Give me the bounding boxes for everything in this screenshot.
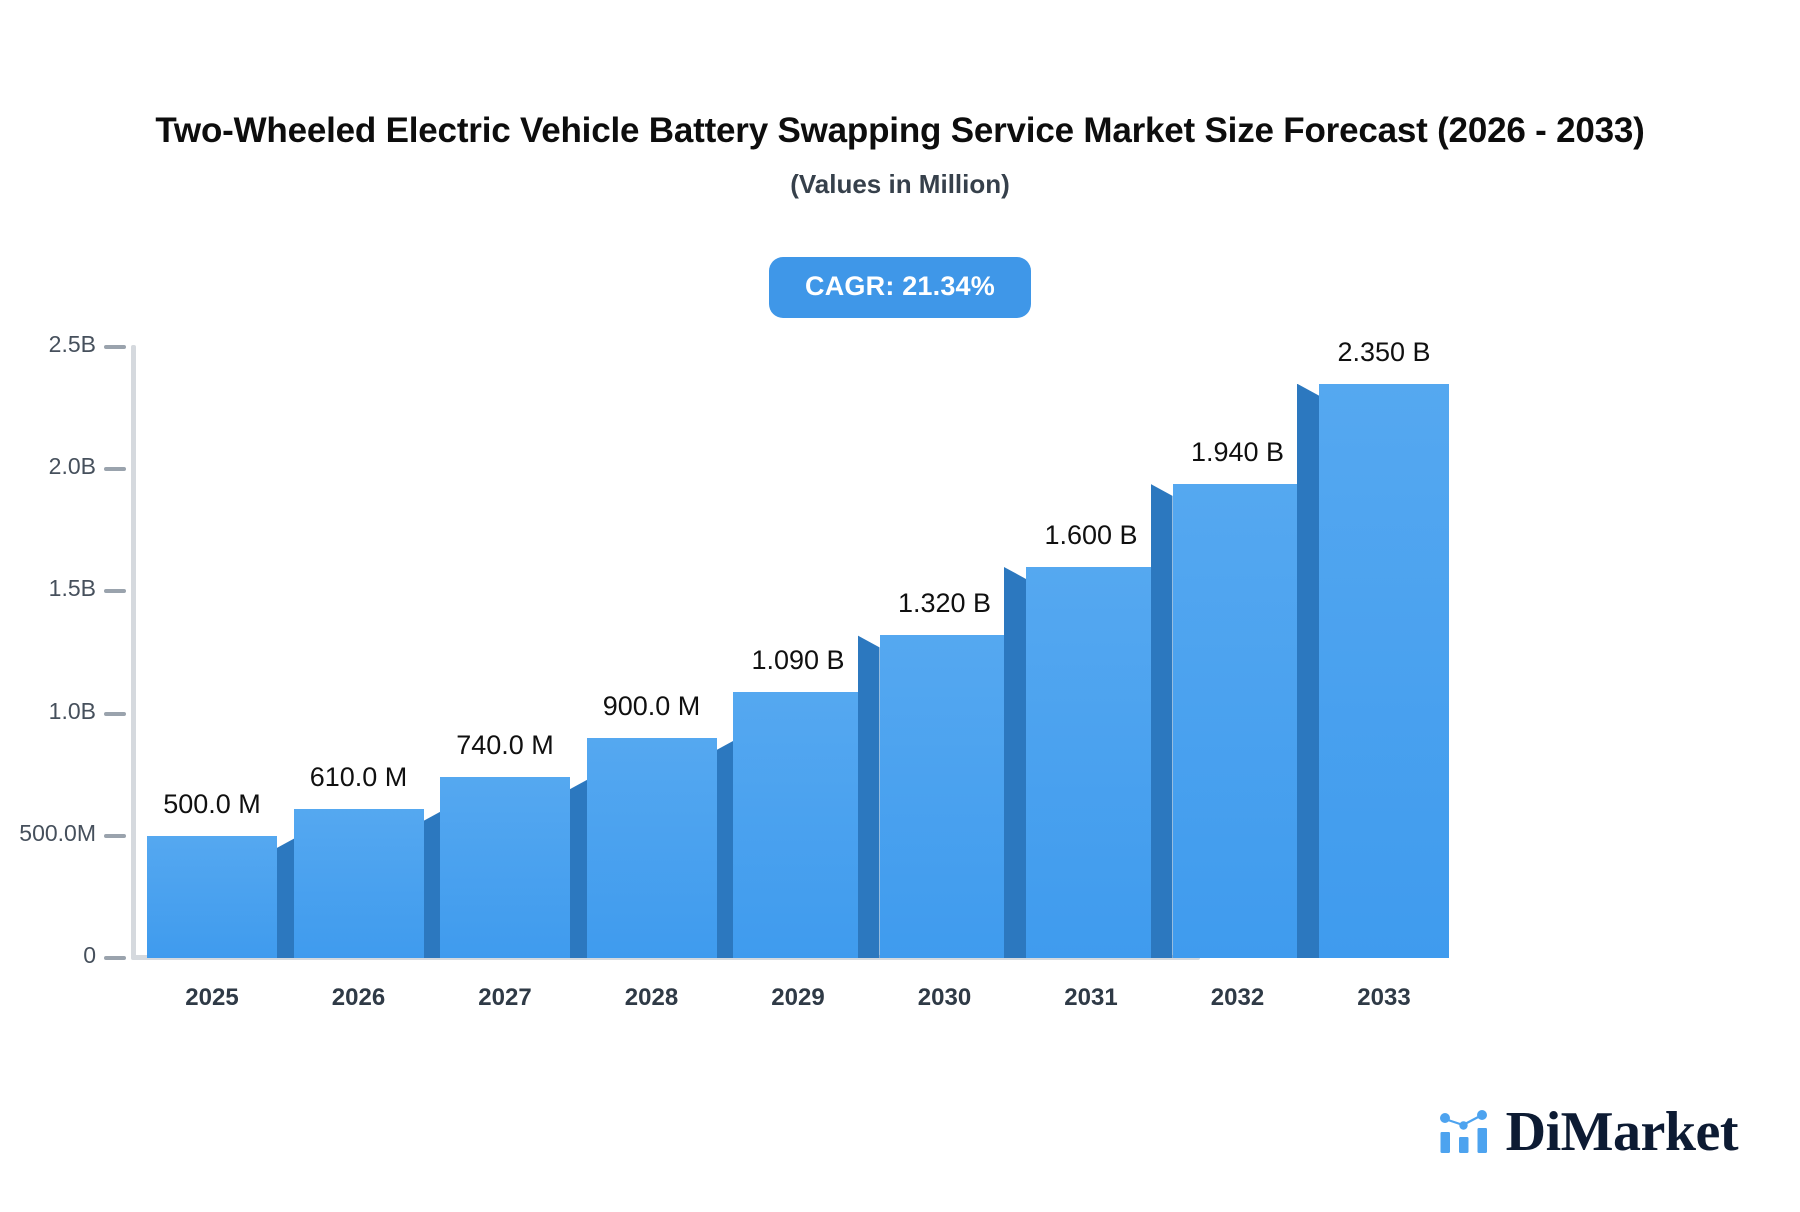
x-axis-tick-label-2028: 2028: [582, 984, 722, 1012]
bar-value-label: 740.0 M: [456, 730, 554, 761]
x-axis-tick-label-2025: 2025: [142, 984, 282, 1012]
x-axis-tick-label-2033: 2033: [1314, 984, 1454, 1012]
bar-2025[interactable]: 500.0 M: [147, 836, 277, 958]
x-axis-tick-label-2027: 2027: [435, 984, 575, 1012]
bar-2028[interactable]: 900.0 M: [587, 738, 717, 958]
bar-value-label: 1.940 B: [1191, 437, 1284, 468]
bar-value-label: 610.0 M: [310, 762, 408, 793]
bar-side-shadow: [858, 635, 880, 958]
bar-face: [733, 692, 863, 958]
bar-2026[interactable]: 610.0 M: [294, 809, 424, 958]
x-axis-tick-label-2032: 2032: [1168, 984, 1308, 1012]
chart-root: Two-Wheeled Electric Vehicle Battery Swa…: [0, 0, 1800, 1212]
bar-face: [147, 836, 277, 958]
bars-layer: 500.0 M2025610.0 M2026740.0 M2027900.0 M…: [0, 0, 1800, 1212]
bar-2031[interactable]: 1.600 B: [1026, 567, 1156, 958]
bar-side-shadow: [1004, 567, 1026, 958]
bar-side-shadow: [1151, 484, 1173, 958]
bar-value-label: 900.0 M: [603, 691, 701, 722]
x-axis-tick-label-2031: 2031: [1021, 984, 1161, 1012]
x-axis-tick-label-2030: 2030: [875, 984, 1015, 1012]
bar-value-label: 500.0 M: [163, 789, 261, 820]
bar-value-label: 1.320 B: [898, 588, 991, 619]
bar-side-shadow: [1297, 384, 1319, 958]
bar-2029[interactable]: 1.090 B: [733, 692, 863, 958]
brand-name: DiMarket: [1506, 1104, 1738, 1160]
brand-logo: DiMarket: [1436, 1104, 1738, 1160]
bar-value-label: 1.600 B: [1044, 520, 1137, 551]
bar-2033[interactable]: 2.350 B: [1319, 384, 1449, 958]
bar-face: [440, 777, 570, 958]
bar-chart-icon: [1436, 1108, 1492, 1156]
bar-face: [1319, 384, 1449, 958]
bar-value-label: 2.350 B: [1337, 337, 1430, 368]
bar-face: [880, 635, 1010, 958]
x-axis-tick-label-2026: 2026: [289, 984, 429, 1012]
x-axis-tick-label-2029: 2029: [728, 984, 868, 1012]
bar-2032[interactable]: 1.940 B: [1173, 484, 1303, 958]
bar-face: [1026, 567, 1156, 958]
bar-face: [587, 738, 717, 958]
bar-face: [1173, 484, 1303, 958]
bar-2027[interactable]: 740.0 M: [440, 777, 570, 958]
bar-value-label: 1.090 B: [751, 645, 844, 676]
bar-2030[interactable]: 1.320 B: [880, 635, 1010, 958]
bar-face: [294, 809, 424, 958]
